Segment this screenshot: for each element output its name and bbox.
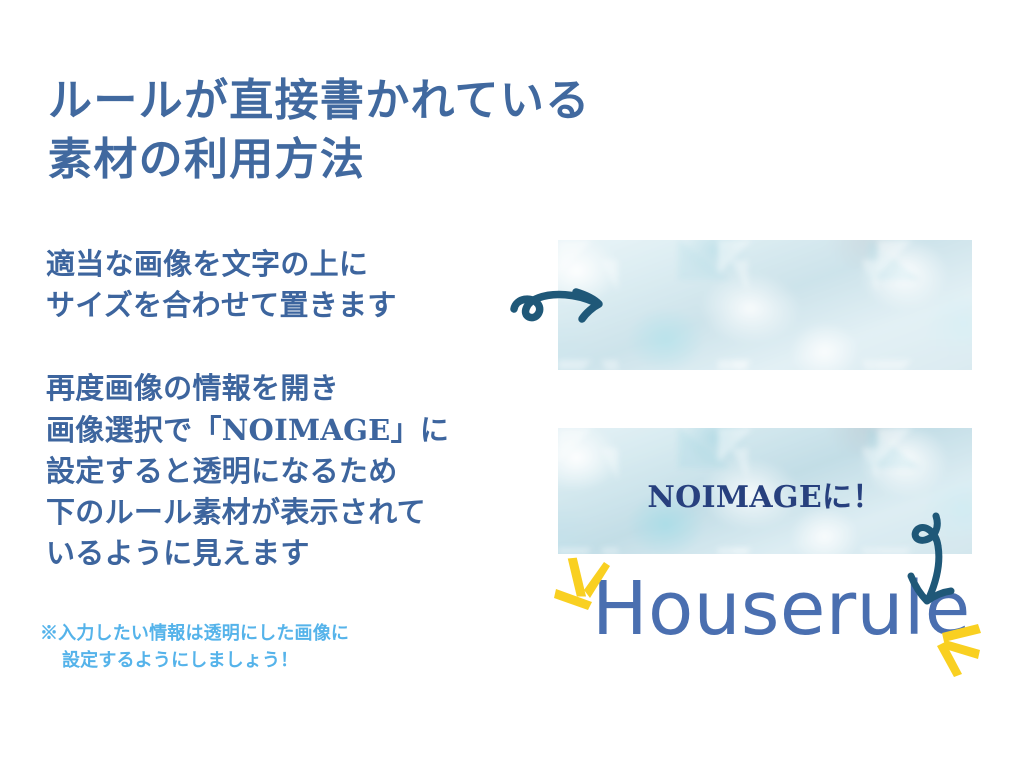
noimage-caption: NOIMAGEに！	[558, 472, 972, 516]
paragraph-2-line-1: 再度画像の情報を開き	[46, 368, 536, 409]
paragraph-2-line-3: 設定すると透明になるため	[46, 451, 536, 492]
curly-arrow-down-icon	[898, 512, 968, 627]
page-title: ルールが直接書かれている 素材の利用方法	[48, 72, 708, 189]
title-line-1: ルールが直接書かれている	[48, 72, 708, 131]
paragraph-2-line-5: いるように見えます	[46, 533, 536, 574]
paragraph-step-2: 再度画像の情報を開き 画像選択で「NOIMAGE」に 設定すると透明になるため …	[46, 368, 536, 574]
body-text-column: 適当な画像を文字の上に サイズを合わせて置きます 再度画像の情報を開き 画像選択…	[46, 244, 536, 574]
paragraph-2-line-4: 下のルール素材が表示されて	[46, 492, 536, 533]
paragraph-2-line-2: 画像選択で「NOIMAGE」に	[46, 410, 536, 451]
sparkle-icon	[922, 614, 984, 683]
crystal-white-veil	[558, 240, 972, 370]
footnote-line-2: 設定するようにしましょう！	[40, 647, 510, 674]
footnote-line-1: ※入力したい情報は透明にした画像に	[40, 620, 510, 647]
paragraph-step-1: 適当な画像を文字の上に サイズを合わせて置きます	[46, 244, 536, 326]
slide-canvas: ルールが直接書かれている 素材の利用方法 適当な画像を文字の上に サイズを合わせ…	[0, 0, 1024, 768]
paragraph-1-line-2: サイズを合わせて置きます	[46, 285, 536, 326]
paragraph-1-line-1: 適当な画像を文字の上に	[46, 244, 536, 285]
sparkle-icon	[552, 556, 614, 625]
footnote: ※入力したい情報は透明にした画像に 設定するようにしましょう！	[40, 620, 510, 674]
title-line-2: 素材の利用方法	[48, 131, 708, 190]
curly-arrow-right-icon	[506, 278, 616, 339]
crystal-image-top	[558, 240, 972, 370]
